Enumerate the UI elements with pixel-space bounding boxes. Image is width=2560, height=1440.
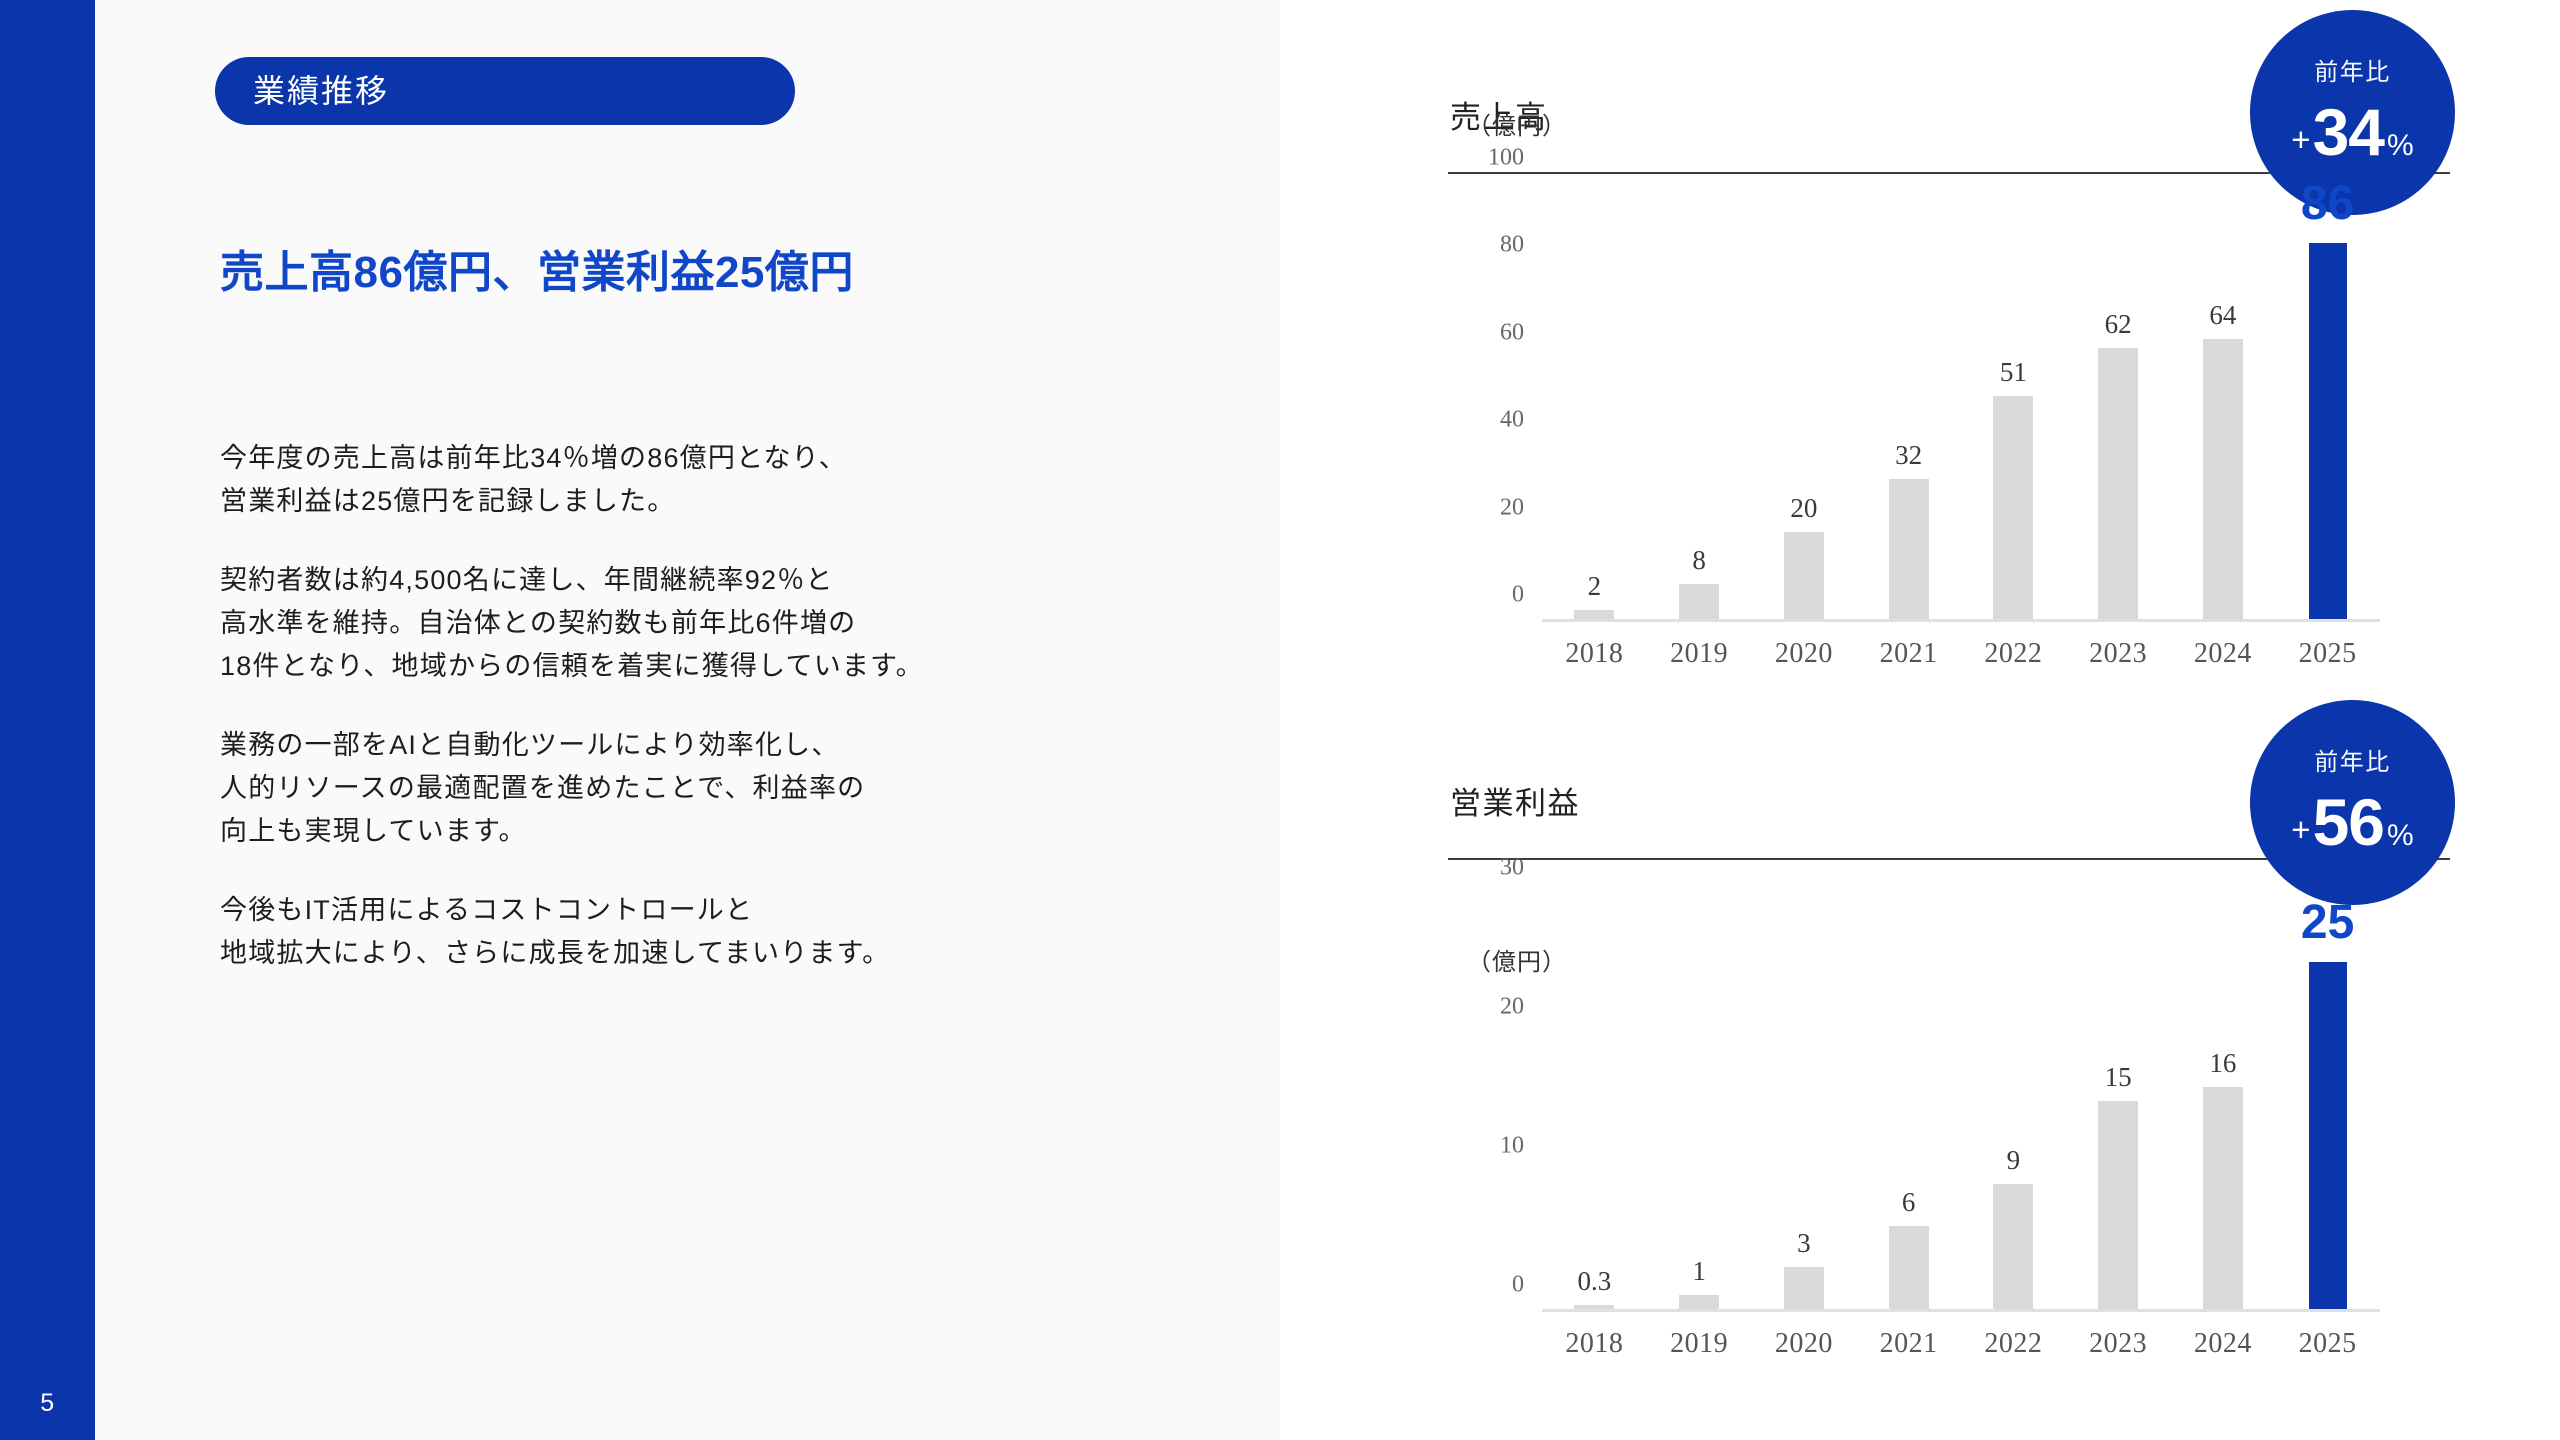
bar-slot[interactable]: 51 [1961,179,2066,619]
bar[interactable] [1889,479,1929,619]
y-axis-tick: 80 [1500,232,1524,259]
y-axis-tick: 100 [1488,145,1524,172]
yoy-badge-number-profit: 56 [2313,789,2384,855]
x-axis-label: 2018 [1542,1328,1647,1360]
section-pill-label: 業績推移 [253,75,389,107]
y-axis-tick: 60 [1500,319,1524,346]
bar-value-label: 3 [1797,1228,1811,1259]
bar[interactable] [1574,610,1614,619]
y-axis-tick: 0 [1512,582,1524,609]
chart-title-profit: 営業利益 [1450,778,1580,823]
plot-area-revenue: 02040608010028203251626486 [1542,182,2380,622]
x-axis-label: 2021 [1856,638,1961,670]
x-axis-label: 2024 [2171,1328,2276,1360]
body-line: 営業利益は25億円を記録しました。 [220,486,675,516]
body-line: 契約者数は約4,500名に達し、年間継続率92％と [220,565,834,595]
bar-slot[interactable]: 1 [1647,889,1752,1309]
x-axis-line-revenue [1542,619,2380,622]
x-axis-label: 2025 [2275,1328,2380,1360]
bar-slot[interactable]: 62 [2066,179,2171,619]
yoy-badge-sign-revenue: + [2291,123,2310,156]
y-axis-tick: 0 [1512,1272,1524,1299]
bar-slot[interactable]: 32 [1856,179,1961,619]
yoy-badge-value-revenue: + 34 % [2291,99,2413,165]
left-content-panel: 業績推移 売上高86億円、営業利益25億円 今年度の売上高は前年比34％増の86… [95,0,1280,1440]
body-line: 地域拡大により、さらに成長を加速してまいります。 [220,938,890,968]
section-pill-badge: 業績推移 [215,57,795,125]
bar-slot[interactable]: 86 [2275,179,2380,619]
bar-value-label: 0.3 [1578,1266,1612,1297]
x-axis-line-profit [1542,1309,2380,1312]
x-axis-label: 2021 [1856,1328,1961,1360]
bar[interactable] [1784,1267,1824,1309]
bar-highlight[interactable] [2309,962,2347,1310]
bar-slot[interactable]: 25 [2275,889,2380,1309]
bar-value-label: 8 [1692,545,1706,576]
bar-slot[interactable]: 15 [2066,889,2171,1309]
bar-slot[interactable]: 3 [1752,889,1857,1309]
bar-value-label: 9 [2007,1145,2021,1176]
chart-block-revenue: 売上高 （億円） 前年比 + 34 % 02040608010028203251… [1280,0,2560,700]
bar-slot[interactable]: 16 [2171,889,2276,1309]
body-line: 今後もIT活用によるコストコントロールと [220,895,753,925]
y-axis-tick: 20 [1500,494,1524,521]
y-axis-tick: 40 [1500,407,1524,434]
x-axis-label: 2022 [1961,1328,2066,1360]
bar[interactable] [1574,1305,1614,1309]
bar[interactable] [2203,1087,2243,1309]
bar[interactable] [1993,396,2033,619]
x-axis-labels-profit: 20182019202020212022202320242025 [1542,1328,2380,1360]
bar[interactable] [1784,532,1824,619]
bar-slot[interactable]: 20 [1752,179,1857,619]
x-axis-label: 2023 [2066,1328,2171,1360]
x-axis-label: 2019 [1647,1328,1752,1360]
bar-slot[interactable]: 2 [1542,179,1647,619]
yoy-badge-sign-profit: + [2291,813,2310,846]
yoy-badge-number-revenue: 34 [2313,99,2384,165]
y-axis-tick: 20 [1500,994,1524,1021]
y-axis-tick: 30 [1500,855,1524,882]
bar-value-label: 32 [1895,440,1922,471]
body-line: 向上も実現しています。 [220,816,527,846]
bar-slot[interactable]: 64 [2171,179,2276,619]
body-line: 高水準を維持。自治体との契約数も前年比6件増の [220,608,856,638]
yoy-badge-caption-profit: 前年比 [2314,751,2391,775]
x-axis-label: 2019 [1647,638,1752,670]
right-charts-panel: 売上高 （億円） 前年比 + 34 % 02040608010028203251… [1280,0,2560,1440]
x-axis-label: 2025 [2275,638,2380,670]
bar-value-label: 1 [1692,1256,1706,1287]
bar-value-label: 16 [2209,1048,2236,1079]
bar-value-label: 51 [2000,357,2027,388]
yoy-badge-unit-revenue: % [2387,131,2414,161]
bar-group: 0.31369151625 [1542,889,2380,1309]
body-line: 18件となり、地域からの信頼を着実に獲得しています。 [220,651,924,681]
bar[interactable] [2203,339,2243,619]
page-number: 5 [0,1389,95,1418]
body-line: 今年度の売上高は前年比34％増の86億円となり、 [220,443,847,473]
left-rail: 5 [0,0,95,1440]
bar-highlight[interactable] [2309,243,2347,619]
bar-slot[interactable]: 6 [1856,889,1961,1309]
bar-slot[interactable]: 0.3 [1542,889,1647,1309]
body-line: 人的リソースの最適配置を進めたことで、利益率の [220,773,865,803]
bar-slot[interactable]: 8 [1647,179,1752,619]
bar[interactable] [1679,584,1719,619]
plot-area-profit: 01020300.31369151625 [1542,892,2380,1312]
body-line: 業務の一部をAIと自動化ツールにより効率化し、 [220,730,840,760]
bar[interactable] [2098,348,2138,619]
x-axis-label: 2024 [2171,638,2276,670]
y-axis-tick: 10 [1500,1133,1524,1160]
bar-value-label: 15 [2105,1062,2132,1093]
body-copy: 今年度の売上高は前年比34％増の86億円となり、営業利益は25億円を記録しました… [220,437,1250,975]
bar[interactable] [2098,1101,2138,1310]
x-axis-label: 2023 [2066,638,2171,670]
body-paragraph: 今後もIT活用によるコストコントロールと地域拡大により、さらに成長を加速してまい… [220,889,1250,974]
body-paragraph: 契約者数は約4,500名に達し、年間継続率92％と高水準を維持。自治体との契約数… [220,559,1250,687]
body-paragraph: 業務の一部をAIと自動化ツールにより効率化し、人的リソースの最適配置を進めたこと… [220,724,1250,852]
yoy-badge-profit: 前年比 + 56 % [2250,700,2455,905]
bar-group: 28203251626486 [1542,179,2380,619]
x-axis-label: 2020 [1752,638,1857,670]
x-axis-label: 2020 [1752,1328,1857,1360]
bar-value-label: 2 [1588,571,1602,602]
yoy-badge-value-profit: + 56 % [2291,789,2413,855]
chart-unit-revenue: （億円） [1467,106,1567,141]
body-paragraph: 今年度の売上高は前年比34％増の86億円となり、営業利益は25億円を記録しました… [220,437,1250,522]
chart-block-profit: 営業利益 （億円） 前年比 + 56 % 01020300.3136915162… [1280,700,2560,1440]
bar-value-label: 20 [1790,493,1817,524]
bar[interactable] [1679,1295,1719,1309]
bar-value-label: 62 [2105,309,2132,340]
x-axis-label: 2022 [1961,638,2066,670]
bar-value-label: 64 [2209,300,2236,331]
bar-value-label: 86 [2301,176,2354,231]
yoy-badge-unit-profit: % [2387,821,2414,851]
x-axis-label: 2018 [1542,638,1647,670]
x-axis-labels-revenue: 20182019202020212022202320242025 [1542,638,2380,670]
bar[interactable] [1889,1226,1929,1309]
page-headline: 売上高86億円、営業利益25億円 [220,236,854,300]
bar-value-label: 6 [1902,1187,1916,1218]
yoy-badge-caption-revenue: 前年比 [2314,61,2391,85]
slide-root: 5 業績推移 売上高86億円、営業利益25億円 今年度の売上高は前年比34％増の… [0,0,2560,1440]
bar-value-label: 25 [2301,895,2354,950]
bar[interactable] [1993,1184,2033,1309]
bar-slot[interactable]: 9 [1961,889,2066,1309]
